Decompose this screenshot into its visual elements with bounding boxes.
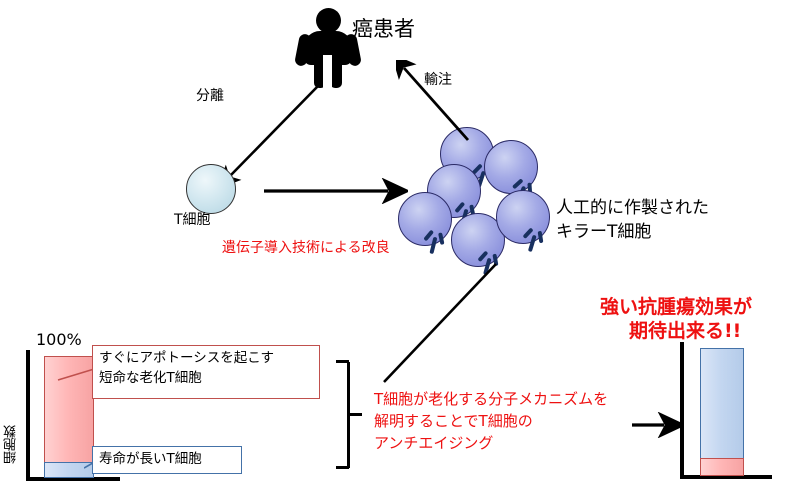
bar-segment-senescent xyxy=(700,458,744,476)
callout-longlived-text: 寿命が長いT細胞 xyxy=(99,450,235,470)
chart-y-axis xyxy=(680,342,684,478)
tcell-label: T細胞 xyxy=(174,212,211,230)
mechanism-text-line2: 解明することでT細胞の xyxy=(374,412,533,431)
patient-label: 癌患者 xyxy=(352,16,415,42)
killer-tcell-label-line1: 人工的に作製された xyxy=(556,198,709,219)
chart-y-axis-label: 細胞数 xyxy=(2,372,21,464)
chart-y-axis xyxy=(26,350,30,480)
mechanism-text-line3: アンチエイジング xyxy=(374,434,493,453)
callout-senescent-tcells: すぐにアポトーシスを起こす 短命な老化T細胞 xyxy=(92,345,320,399)
bar-segment-longlived xyxy=(700,348,744,460)
infusion-label: 輸注 xyxy=(424,72,452,90)
patient-head xyxy=(316,8,341,33)
mechanism-text-line1: T細胞が老化する分子メカニズムを xyxy=(374,390,608,409)
callout-senescent-line2: 短命な老化T細胞 xyxy=(99,369,313,389)
gene-modification-arrow xyxy=(262,178,408,204)
separation-label: 分離 xyxy=(196,88,224,106)
killer-tcell-label-line2: キラーT細胞 xyxy=(556,222,651,243)
cancer-patient-icon xyxy=(296,8,360,86)
gene-modification-label: 遺伝子導入技術による改良 xyxy=(222,240,390,258)
chart-top-percent-label: 100% xyxy=(36,330,82,349)
grouping-brace xyxy=(336,356,362,474)
mechanism-link-line xyxy=(378,258,518,388)
diagram-canvas: 癌患者 分離 T細胞 遺伝子導入技術による改良 xyxy=(0,0,791,500)
tcell-sphere xyxy=(186,164,236,214)
chart-after-rejuvenation xyxy=(672,340,782,490)
callout-senescent-line1: すぐにアポトーシスを起こす xyxy=(99,349,313,369)
callout-longlived-tcells: 寿命が長いT細胞 xyxy=(92,446,242,474)
headline-line1: 強い抗腫瘍効果が xyxy=(600,296,752,320)
car-receptor-icon xyxy=(421,229,446,257)
